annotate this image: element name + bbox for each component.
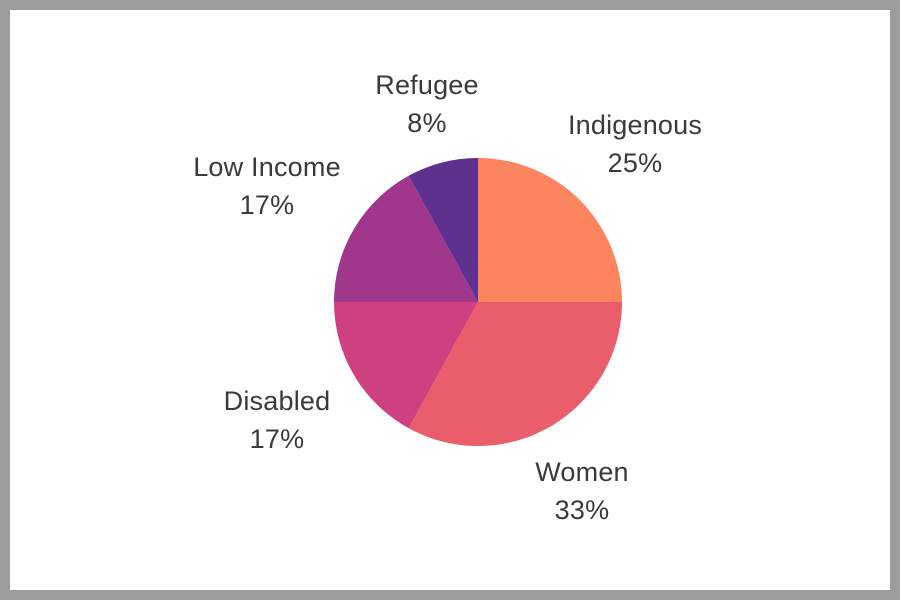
pie-label-refugee-value: 8% [375, 104, 478, 142]
pie-label-indigenous-value: 25% [568, 144, 702, 182]
pie-label-low-income: Low Income 17% [193, 148, 341, 225]
pie-label-indigenous: Indigenous 25% [568, 106, 702, 183]
pie-label-disabled-value: 17% [224, 420, 331, 458]
pie-label-indigenous-name: Indigenous [568, 106, 702, 144]
pie-label-low-income-value: 17% [193, 186, 341, 224]
pie-label-disabled: Disabled 17% [224, 382, 331, 459]
pie-label-women: Women 33% [535, 453, 629, 530]
pie-chart-plot-area: Refugee 8% Indigenous 25% Low Income 17%… [10, 10, 890, 590]
pie-label-refugee: Refugee 8% [375, 66, 478, 143]
pie-slice-group [334, 158, 622, 446]
pie-label-disabled-name: Disabled [224, 382, 331, 420]
pie-label-women-name: Women [535, 453, 629, 491]
chart-frame: Refugee 8% Indigenous 25% Low Income 17%… [0, 0, 900, 600]
pie-label-women-value: 33% [535, 491, 629, 529]
pie-label-low-income-name: Low Income [193, 148, 341, 186]
pie-label-refugee-name: Refugee [375, 66, 478, 104]
